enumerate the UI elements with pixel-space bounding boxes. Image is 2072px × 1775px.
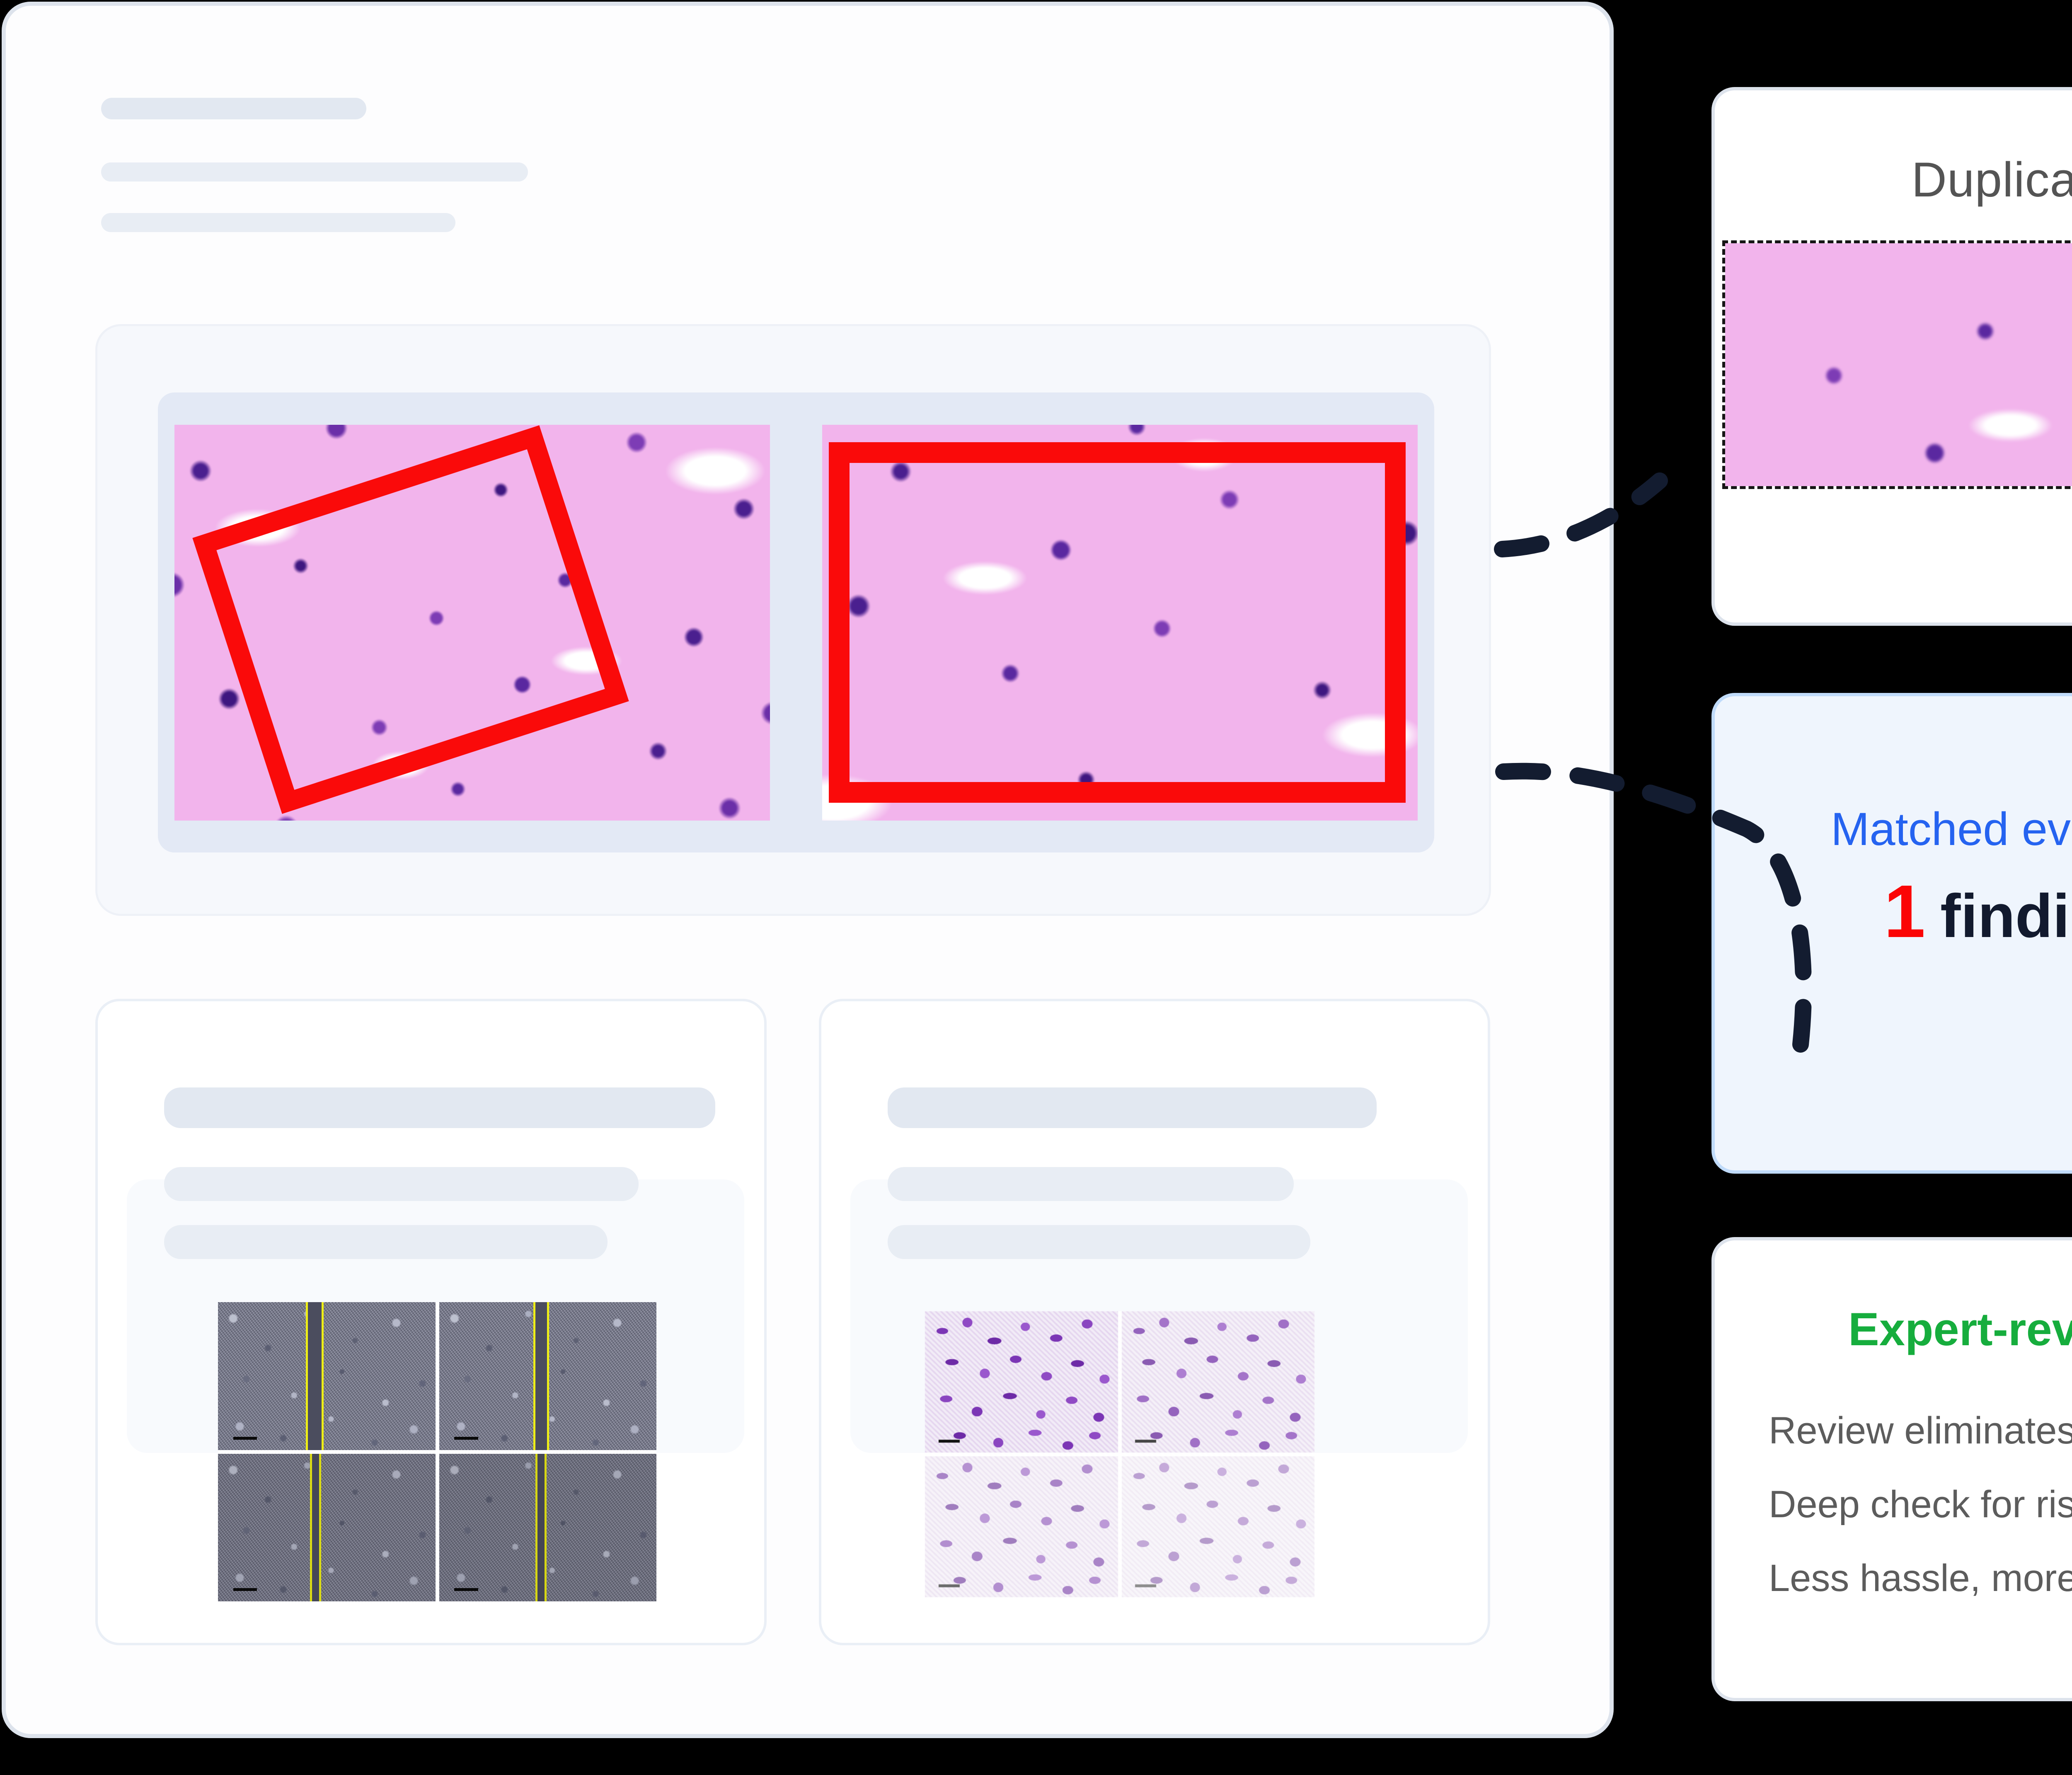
assay-panel xyxy=(439,1454,657,1602)
skeleton-line-2 xyxy=(164,1225,608,1259)
findings-counter: 1 findings xyxy=(1884,874,2072,949)
duplicate-thumb-a[interactable] xyxy=(1722,240,2072,489)
assay-panel xyxy=(925,1311,1118,1453)
report-checklist-item: Deep check for risky images xyxy=(1769,1467,2072,1541)
assay-panel xyxy=(439,1302,657,1450)
primary-figure-card xyxy=(95,324,1491,916)
matched-evidence-card: Matched evidence 1 findings xyxy=(1711,693,2072,1174)
skeleton-line-title xyxy=(888,1087,1377,1128)
findings-unit: findings xyxy=(1940,886,2072,947)
skeleton-line-1 xyxy=(888,1167,1294,1201)
skeleton-line-1 xyxy=(101,162,528,182)
report-checklist-item: Review eliminates false positives xyxy=(1769,1394,2072,1467)
duplicate-region-card: Duplicate Region xyxy=(1711,87,2072,626)
matched-evidence-label: Matched evidence xyxy=(1831,802,2072,856)
skeleton-line-2 xyxy=(101,213,455,232)
duplicate-annotation-box-straight xyxy=(829,442,1406,803)
report-title: Expert-reviewed report xyxy=(1715,1303,2072,1356)
figure-image-tray xyxy=(158,392,1434,852)
report-checklist-item: Less hassle, more assurance xyxy=(1769,1541,2072,1615)
scratch-wound-assay-grid[interactable] xyxy=(218,1302,656,1601)
assay-panel xyxy=(925,1456,1118,1598)
scratch-assay-card xyxy=(95,999,767,1645)
histology-image-left[interactable] xyxy=(174,425,770,821)
skeleton-line-title xyxy=(101,98,366,119)
checklist-label: Review eliminates false positives xyxy=(1769,1409,2072,1453)
screenshot-root: Duplicate Region Matched evidence 1 find… xyxy=(0,0,2072,1775)
assay-panel xyxy=(1122,1456,1315,1598)
checklist-label: Deep check for risky images xyxy=(1769,1483,2072,1526)
skeleton-line-1 xyxy=(164,1167,639,1201)
skeleton-line-title xyxy=(164,1087,715,1128)
expert-reviewed-report-card: Expert-reviewed report Review eliminates… xyxy=(1711,1237,2072,1701)
assay-panel xyxy=(218,1302,436,1450)
findings-count: 1 xyxy=(1884,874,1925,949)
histology-image-right[interactable] xyxy=(822,425,1418,821)
transwell-crystal-violet-grid[interactable] xyxy=(925,1311,1314,1597)
document-preview-panel xyxy=(2,2,1614,1738)
transwell-assay-card xyxy=(819,999,1490,1645)
assay-panel xyxy=(218,1454,436,1602)
duplicate-region-title: Duplicate Region xyxy=(1715,152,2072,208)
skeleton-line-2 xyxy=(888,1225,1310,1259)
checklist-label: Less hassle, more assurance xyxy=(1769,1557,2072,1600)
report-checklist: Review eliminates false positives Deep c… xyxy=(1769,1394,2072,1615)
assay-panel xyxy=(1122,1311,1315,1453)
